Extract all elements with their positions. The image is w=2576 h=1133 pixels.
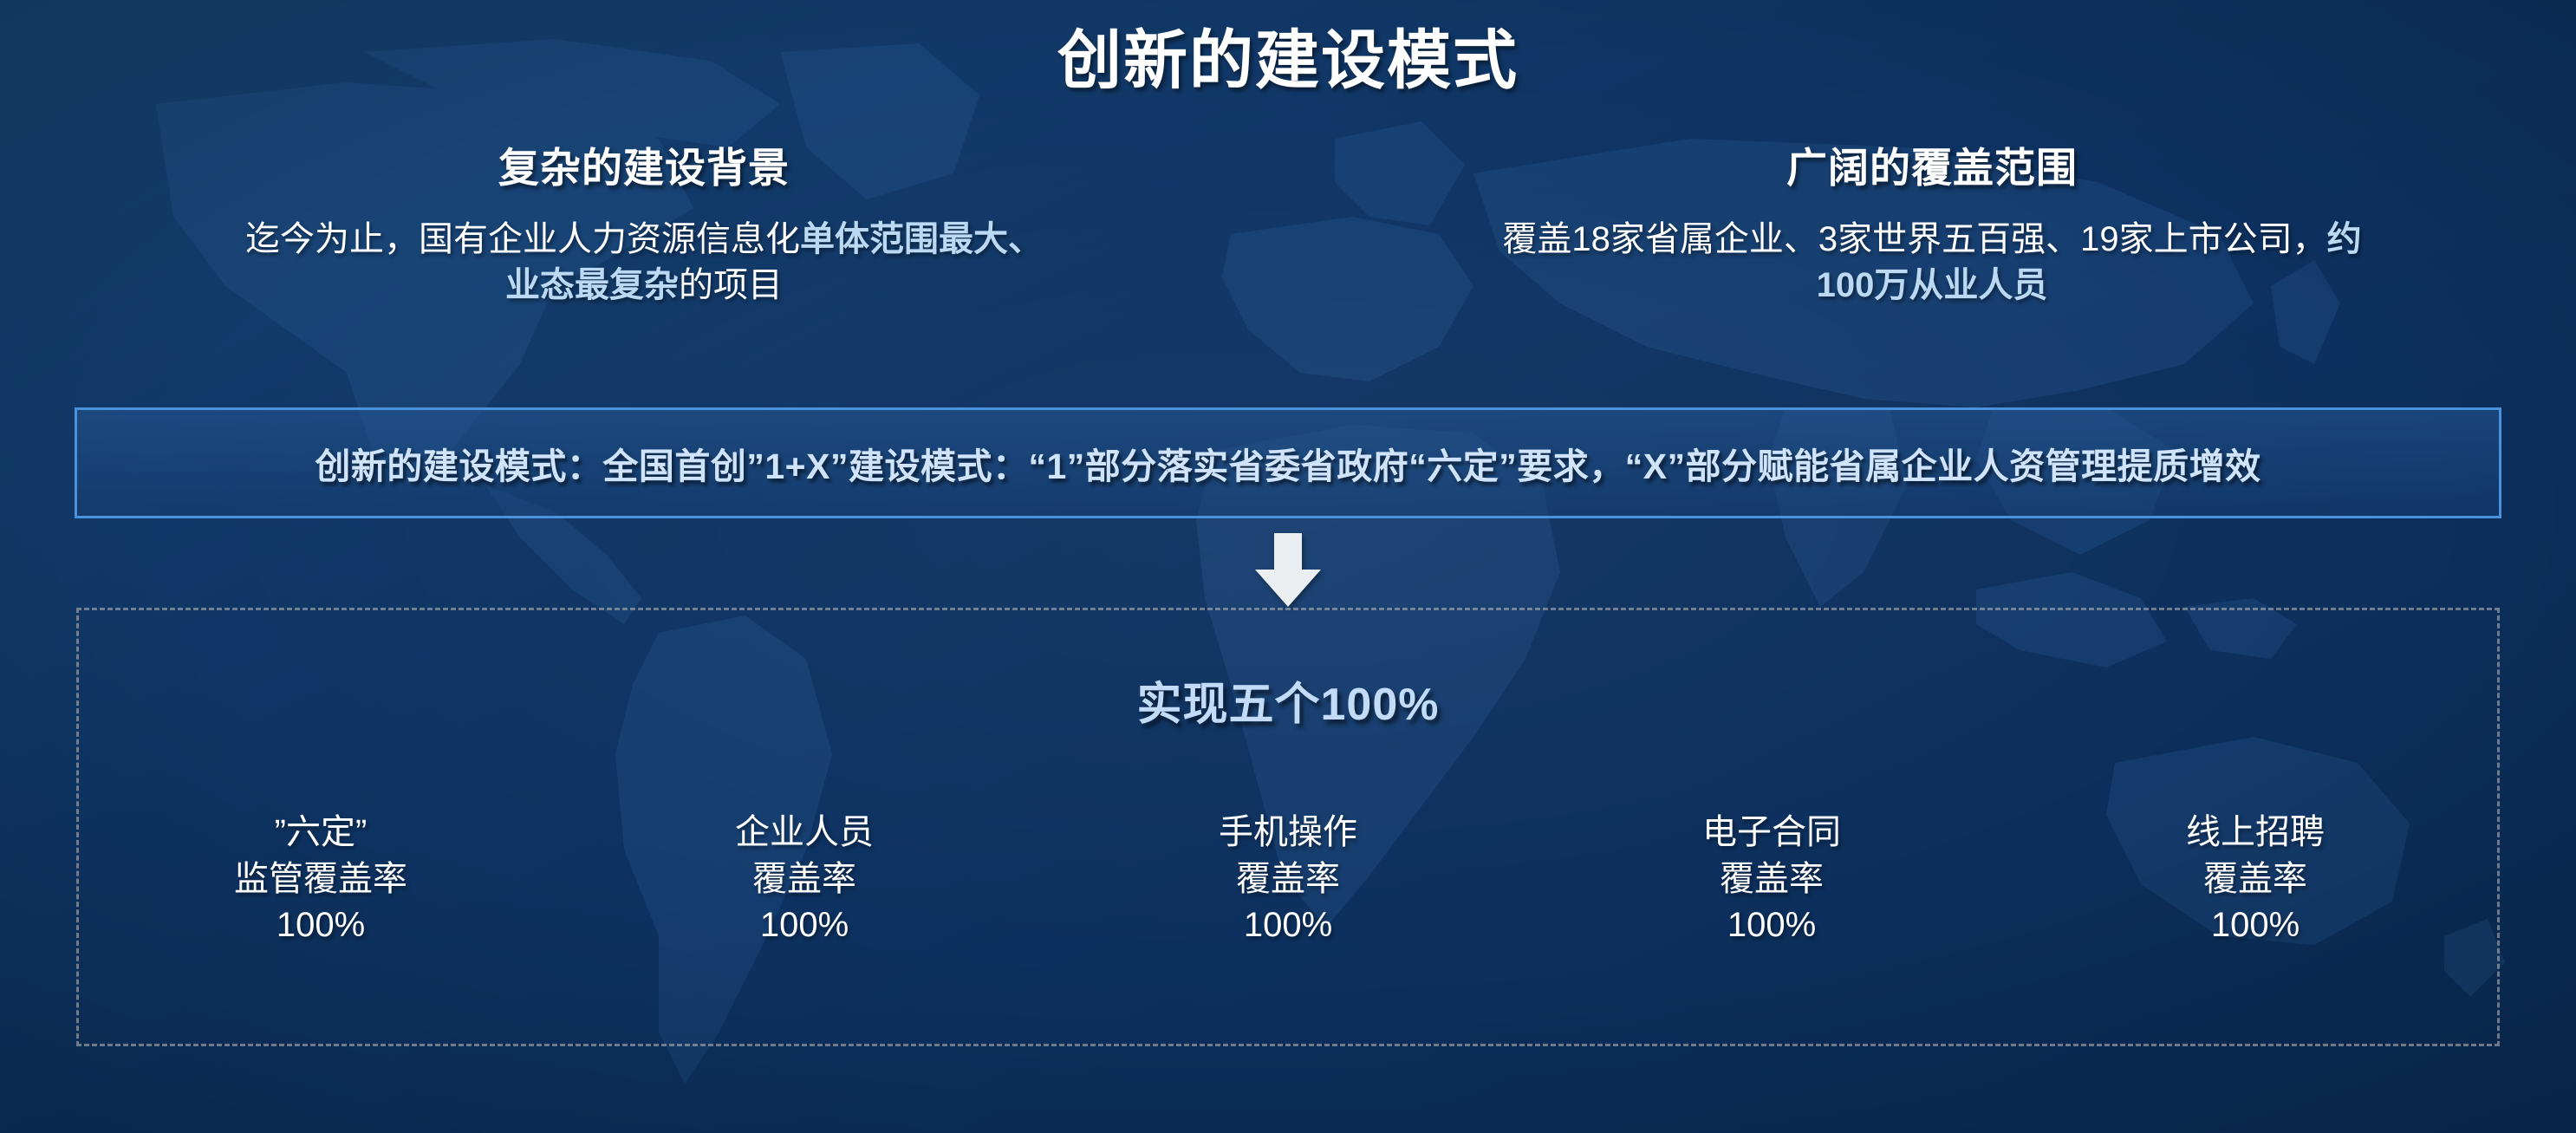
metric-label-line2: 覆盖率: [1046, 856, 1530, 903]
column-background-text-2: 的项目: [679, 266, 783, 304]
column-coverage-body: 覆盖18家省属企业、3家世界五百强、19家上市公司，约100万从业人员: [1499, 217, 2365, 309]
metric-label-line1: ”六定”: [79, 810, 563, 856]
metric-label-line2: 覆盖率: [1530, 856, 2013, 903]
metric-label-line2: 覆盖率: [2013, 856, 2497, 903]
slide-canvas: 创新的建设模式 复杂的建设背景 迄今为止，国有企业人力资源信息化单体范围最大、业…: [0, 0, 2576, 1133]
metric-value: 100%: [79, 902, 563, 949]
column-background-heading: 复杂的建设背景: [52, 134, 1236, 194]
metric-value: 100%: [1530, 902, 2013, 949]
metric-item: 手机操作 覆盖率 100%: [1046, 810, 1530, 949]
metric-label-line1: 电子合同: [1530, 810, 2013, 856]
column-background-text-1: 迄今为止，国有企业人力资源信息化: [245, 220, 800, 258]
metric-label-line1: 企业人员: [563, 810, 1046, 856]
metrics-row: ”六定” 监管覆盖率 100% 企业人员 覆盖率 100% 手机操作 覆盖率 1…: [79, 810, 2497, 949]
model-banner: 创新的建设模式：全国首创”1+X”建设模式：“1”部分落实省委省政府“六定”要求…: [75, 407, 2501, 518]
info-columns: 复杂的建设背景 迄今为止，国有企业人力资源信息化单体范围最大、业态最复杂的项目 …: [0, 134, 2576, 309]
column-background-body: 迄今为止，国有企业人力资源信息化单体范围最大、业态最复杂的项目: [245, 217, 1043, 309]
metric-label-line2: 监管覆盖率: [79, 856, 563, 903]
model-banner-text: 创新的建设模式：全国首创”1+X”建设模式：“1”部分落实省委省政府“六定”要求…: [315, 437, 2261, 489]
column-background: 复杂的建设背景 迄今为止，国有企业人力资源信息化单体范围最大、业态最复杂的项目: [0, 134, 1288, 309]
metric-label-line1: 手机操作: [1046, 810, 1530, 856]
arrow-container: [0, 533, 2576, 608]
metric-item: ”六定” 监管覆盖率 100%: [79, 810, 563, 949]
column-coverage-text-1: 覆盖18家省属企业、3家世界五百强、19家上市公司，: [1502, 220, 2326, 258]
metric-value: 100%: [1046, 902, 1530, 949]
metric-item: 企业人员 覆盖率 100%: [563, 810, 1046, 949]
page-title: 创新的建设模式: [0, 9, 2576, 101]
column-coverage-heading: 广阔的覆盖范围: [1340, 134, 2524, 194]
metric-item: 电子合同 覆盖率 100%: [1530, 810, 2013, 949]
metric-value: 100%: [563, 902, 1046, 949]
metric-label-line1: 线上招聘: [2013, 810, 2497, 856]
results-title: 实现五个100%: [79, 667, 2497, 733]
column-coverage: 广阔的覆盖范围 覆盖18家省属企业、3家世界五百强、19家上市公司，约100万从…: [1288, 134, 2576, 309]
results-panel: 实现五个100% ”六定” 监管覆盖率 100% 企业人员 覆盖率 100% 手…: [76, 608, 2500, 1046]
arrow-down-icon: [1254, 533, 1322, 608]
metric-item: 线上招聘 覆盖率 100%: [2013, 810, 2497, 949]
metric-label-line2: 覆盖率: [563, 856, 1046, 903]
metric-value: 100%: [2013, 902, 2497, 949]
